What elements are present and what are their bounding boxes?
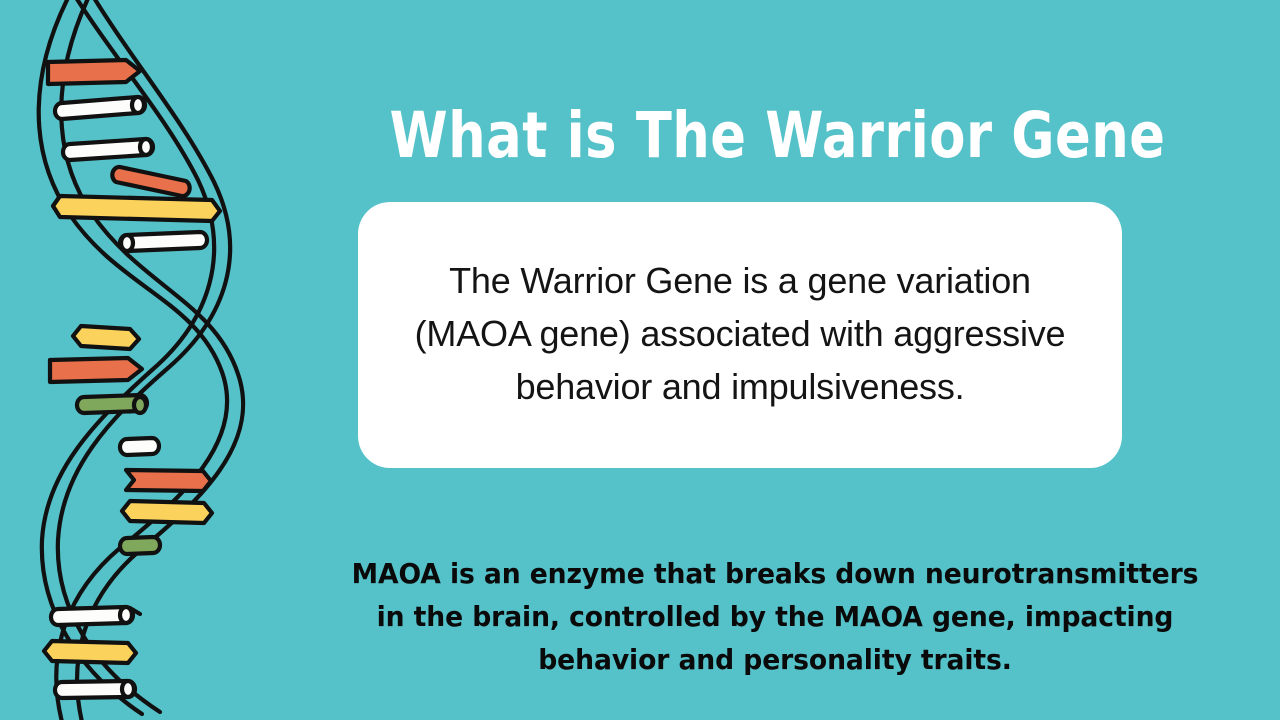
helix-rungs [44,60,220,698]
caption-text: MAOA is an enzyme that breaks down neuro… [300,552,1250,681]
helix-rung [126,470,211,491]
helix-rung-cap [121,235,133,251]
slide-canvas: What is The Warrior Gene The Warrior Gen… [0,0,1280,720]
helix-rung [50,358,142,382]
helix-rung-cap [122,681,134,697]
helix-rung [120,537,160,554]
helix-rung [44,641,136,663]
helix-rung-cap [120,607,132,623]
helix-rung [120,438,159,455]
page-title: What is The Warrior Gene [310,104,1245,168]
info-card: The Warrior Gene is a gene variation (MA… [358,202,1122,468]
helix-rung-cap [132,97,144,113]
helix-rung [112,167,189,196]
helix-rung-cap [134,397,146,413]
info-card-body-text: The Warrior Gene is a gene variation (MA… [392,254,1088,413]
helix-rung [73,326,139,349]
helix-rung [122,501,212,523]
helix-rung [48,60,140,84]
dna-double-helix-illustration [0,0,275,720]
helix-rung-cap [140,139,152,155]
helix-rung [53,196,220,221]
dna-helix-svg [0,0,275,720]
